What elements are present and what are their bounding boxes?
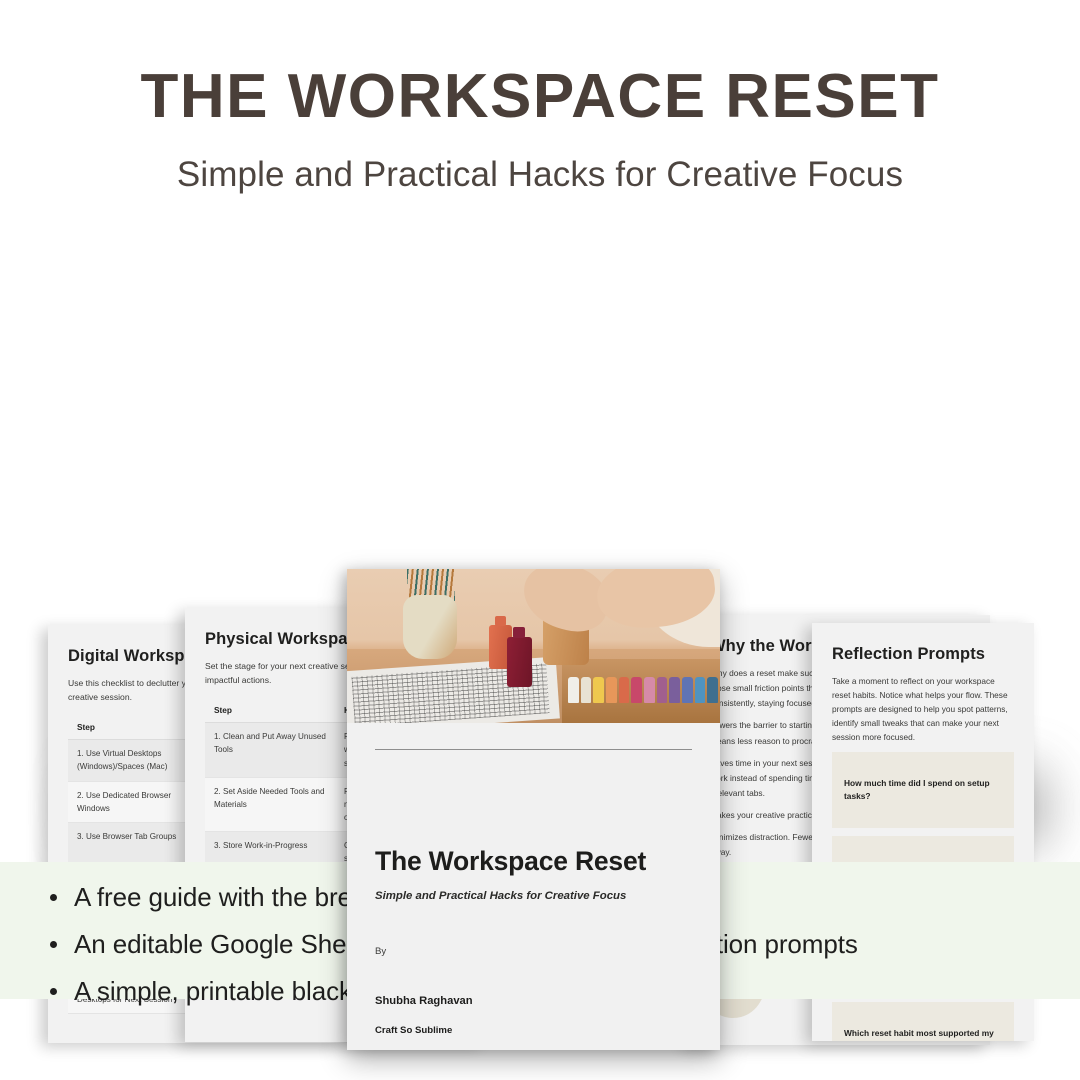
cover-title: The Workspace Reset: [375, 846, 692, 877]
cover-photo: [347, 569, 720, 723]
page-subtitle: Simple and Practical Hacks for Creative …: [0, 155, 1080, 195]
mockup-stage: Digital Workspace Reset Use this checkli…: [0, 270, 1080, 860]
cover-body: The Workspace Reset Simple and Practical…: [347, 723, 720, 1050]
cell-step: 1. Use Virtual Desktops (Windows)/Spaces…: [68, 740, 198, 781]
cover-brand: Craft So Sublime: [375, 1025, 692, 1036]
paint-pots-icon: [568, 663, 718, 703]
page-title: THE WORKSPACE RESET: [0, 64, 1080, 129]
list-item[interactable]: How much time did I spend on setup tasks…: [832, 752, 1014, 827]
vase-icon: [403, 595, 457, 659]
cover-by-label: By: [375, 946, 692, 957]
card-reflection-heading: Reflection Prompts: [832, 645, 1014, 664]
paint-bottle-icon: [507, 637, 532, 687]
card-reflection-intro: Take a moment to reflect on your workspa…: [832, 674, 1014, 744]
card-cover[interactable]: The Workspace Reset Simple and Practical…: [347, 569, 720, 1050]
digital-col-step: Step: [68, 715, 198, 740]
cover-author: Shubha Raghavan: [375, 995, 692, 1007]
cell-step: 1. Clean and Put Away Unused Tools: [205, 723, 335, 777]
cell-step: 2. Use Dedicated Browser Windows: [68, 781, 198, 822]
cover-subtitle: Simple and Practical Hacks for Creative …: [375, 890, 692, 902]
cell-step: 2. Set Aside Needed Tools and Materials: [205, 777, 335, 831]
physical-col-step: Step: [205, 698, 335, 723]
cover-divider: [375, 749, 692, 750]
page-header: THE WORKSPACE RESET Simple and Practical…: [0, 0, 1080, 195]
cell-step: 3. Use Browser Tab Groups: [68, 822, 198, 863]
